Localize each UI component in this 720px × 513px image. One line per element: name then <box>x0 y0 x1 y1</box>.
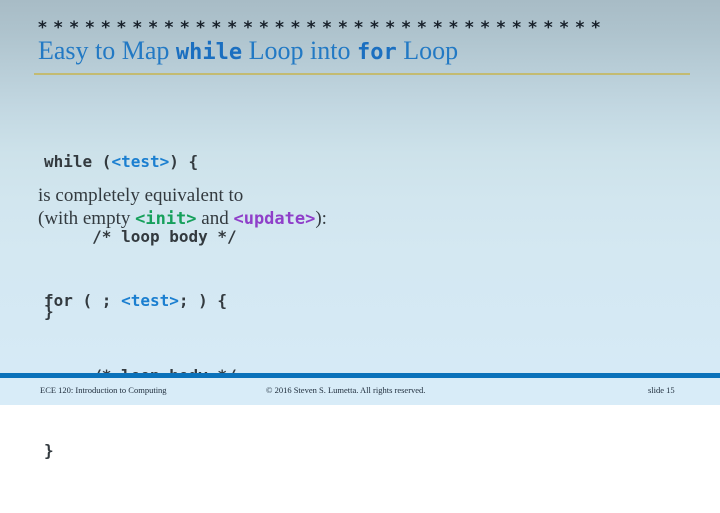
code-line-for-header: for ( ; <test>; ) { <box>44 288 237 313</box>
title-divider-rule <box>34 73 690 75</box>
equivalence-line-2: (with empty <init> and <update>): <box>38 207 327 231</box>
footer-copyright: © 2016 Steven S. Lumetta. All rights res… <box>266 385 425 395</box>
equivalence-text-post: ): <box>315 208 327 229</box>
equivalence-text-pre: (with empty <box>38 208 135 229</box>
title-keyword-for: for <box>357 40 397 65</box>
code-line-for-close: } <box>44 438 237 463</box>
code-while-keyword: while ( <box>44 152 111 171</box>
footer-course-label: ECE 120: Introduction to Computing <box>40 385 167 395</box>
page-title: Easy to Map while Loop into for Loop <box>38 36 698 66</box>
equivalence-line-1: is completely equivalent to <box>38 184 327 207</box>
title-keyword-while: while <box>176 40 242 65</box>
equivalence-note: is completely equivalent to (with empty … <box>38 184 327 231</box>
init-token: <init> <box>135 209 196 229</box>
code-while-test-token: <test> <box>111 152 169 171</box>
title-text-part2: Loop into <box>242 36 357 65</box>
code-for-keyword: for ( ; <box>44 291 121 310</box>
code-for-test-token: <test> <box>121 291 179 310</box>
code-while-brace-open: ) { <box>169 152 198 171</box>
title-text-part1: Easy to Map <box>38 36 176 65</box>
code-for-brace-open: ; ) { <box>179 291 227 310</box>
code-line-while-header: while (<test>) { <box>44 149 237 174</box>
equivalence-text-mid: and <box>197 208 234 229</box>
update-token: <update> <box>233 209 315 229</box>
slide-canvas: * * * * * * * * * * * * * * * * * * * * … <box>0 0 720 405</box>
footer-slide-number: slide 15 <box>648 385 675 395</box>
asterisk-divider: * * * * * * * * * * * * * * * * * * * * … <box>38 18 688 38</box>
title-text-part3: Loop <box>397 36 458 65</box>
